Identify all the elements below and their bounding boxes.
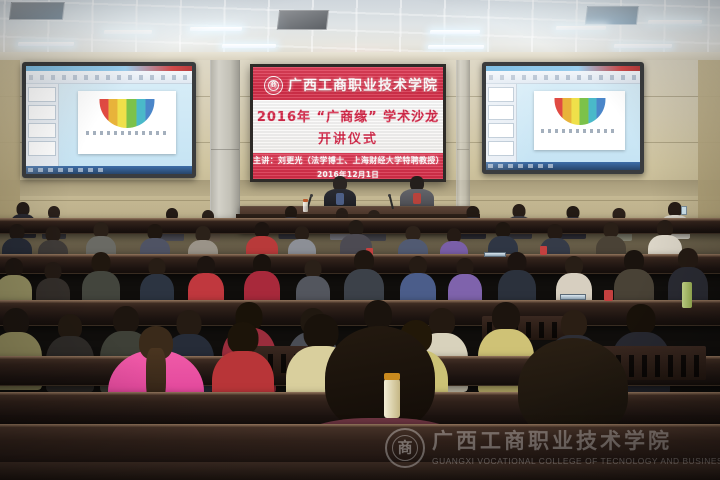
left-wall-display[interactable]: [22, 62, 196, 178]
ppt-slide: [534, 91, 625, 150]
ppt-taskbar[interactable]: [486, 162, 640, 170]
bottle-cap-foreground: [384, 373, 400, 380]
banner-title-line2: 开讲仪式: [318, 128, 378, 147]
ppt-ribbon: [486, 71, 640, 84]
crest-character: 商: [270, 82, 277, 89]
foreground-head: [325, 326, 435, 430]
paper-cup: [540, 246, 547, 255]
banner-title-band: 2016年 “广商缘” 学术沙龙 开讲仪式: [253, 100, 443, 153]
slide-arch-graphic: [554, 98, 605, 125]
green-thermos: [682, 282, 692, 308]
desk-row-nearest: [0, 462, 720, 480]
laptop[interactable]: [560, 294, 586, 300]
foreground-head: [518, 338, 628, 438]
banner-header: 商 广西工商职业技术学院: [253, 72, 443, 98]
ppt-canvas: [59, 84, 192, 166]
audience-area: [0, 196, 720, 480]
slide-caption-text: [541, 129, 618, 133]
ppt-slide-thumbnails[interactable]: [26, 84, 59, 166]
right-wall-display[interactable]: [482, 62, 644, 174]
ppt-slide-thumbnails[interactable]: [486, 84, 517, 162]
smartphone-icon: [681, 206, 687, 215]
ppt-ribbon: [26, 71, 192, 84]
slide-arch-graphic: [99, 99, 154, 128]
banner-speaker-line: 主讲：刘更光（法学博士、上海财经大学特聘教授）: [253, 155, 443, 166]
led-banner: 商 广西工商职业技术学院 2016年 “广商缘” 学术沙龙 开讲仪式 主讲：刘更…: [250, 64, 446, 182]
banner-title-line1: 2016年 “广商缘” 学术沙龙: [257, 106, 439, 125]
water-bottle-foreground: [384, 378, 400, 418]
college-crest-icon: 商: [264, 76, 283, 95]
left-display-screen: [26, 66, 192, 174]
right-display-screen: [486, 66, 640, 170]
lecture-hall-photo: 商 广西工商职业技术学院 2016年 “广商缘” 学术沙龙 开讲仪式 主讲：刘更…: [0, 0, 720, 480]
ppt-taskbar[interactable]: [26, 166, 192, 174]
slide-caption-text: [86, 131, 169, 135]
banner-school-name: 广西工商职业技术学院: [288, 75, 438, 95]
paper-cup: [604, 290, 613, 301]
ppt-canvas: [517, 84, 640, 162]
ppt-slide: [78, 91, 176, 153]
